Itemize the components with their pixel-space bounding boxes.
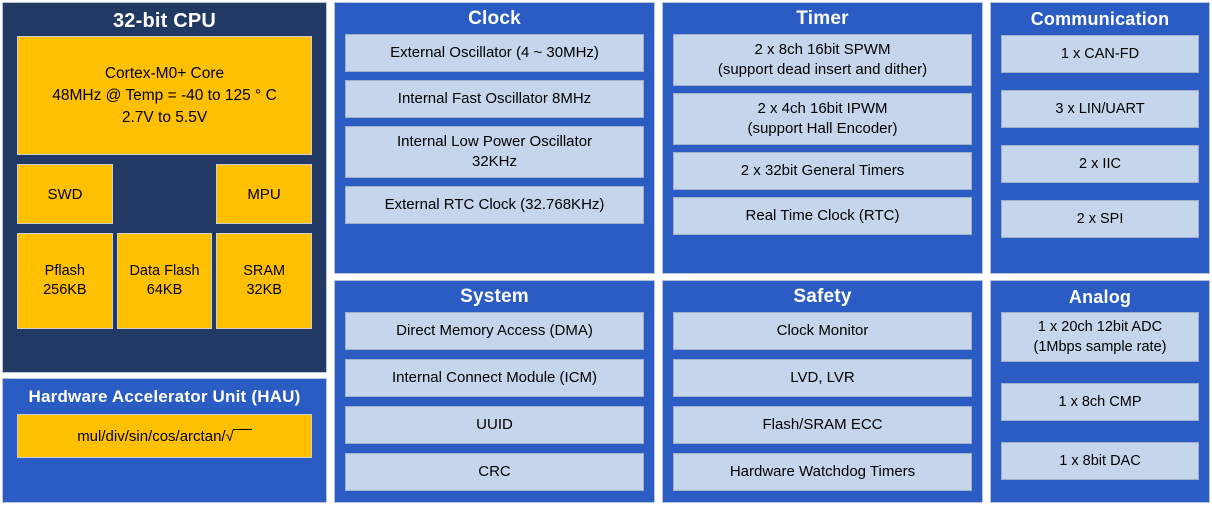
timer-item-general-timers: 2 x 32bit General Timers	[673, 152, 972, 190]
panel-title-analog: Analog	[991, 281, 1209, 311]
cpu-debug-row: SWD MPU	[17, 164, 312, 224]
communication-item-iic-label: 2 x IIC	[1079, 154, 1121, 174]
panel-title-cpu: 32-bit CPU	[3, 3, 326, 36]
cpu-core-line-2: 48MHz @ Temp = -40 to 125 ° C	[52, 85, 277, 107]
safety-item-clock-monitor-label: Clock Monitor	[777, 321, 869, 341]
panel-title-system: System	[335, 281, 654, 311]
system-item-uuid: UUID	[345, 406, 644, 444]
cpu-block-pflash-name: Pflash	[45, 262, 85, 281]
communication-item-spi: 2 x SPI	[1001, 200, 1199, 238]
clock-item-external-rtc-clock: External RTC Clock (32.768KHz)	[345, 186, 644, 224]
panel-body-system: Direct Memory Access (DMA) Internal Conn…	[335, 311, 654, 502]
hau-radical-overbar-icon	[233, 429, 252, 430]
panel-system: System Direct Memory Access (DMA) Intern…	[334, 280, 655, 503]
cpu-block-sram-size: 32KB	[246, 281, 281, 300]
panel-body-safety: Clock Monitor LVD, LVR Flash/SRAM ECC Ha…	[663, 311, 982, 502]
timer-item-ipwm: 2 x 4ch 16bit IPWM (support Hall Encoder…	[673, 93, 972, 145]
communication-item-can-fd-label: 1 x CAN-FD	[1061, 44, 1139, 64]
cpu-core-line-3: 2.7V to 5.5V	[122, 107, 207, 129]
timer-safety-column: Timer 2 x 8ch 16bit SPWM (support dead i…	[662, 2, 983, 503]
clock-item-external-rtc-clock-label: External RTC Clock (32.768KHz)	[385, 195, 605, 215]
panel-body-communication: 1 x CAN-FD 3 x LIN/UART 2 x IIC 2 x SPI	[991, 33, 1209, 273]
system-item-dma: Direct Memory Access (DMA)	[345, 312, 644, 350]
cpu-block-mpu: MPU	[216, 164, 312, 224]
system-item-icm: Internal Connect Module (ICM)	[345, 359, 644, 397]
clock-item-external-oscillator: External Oscillator (4 ~ 30MHz)	[345, 34, 644, 72]
analog-item-cmp: 1 x 8ch CMP	[1001, 383, 1199, 421]
safety-item-ecc-label: Flash/SRAM ECC	[762, 415, 882, 435]
panel-body-timer: 2 x 8ch 16bit SPWM (support dead insert …	[663, 33, 982, 273]
cpu-core-box: Cortex-M0+ Core 48MHz @ Temp = -40 to 12…	[17, 36, 312, 155]
panel-body-hau: mul/div/sin/cos/arctan/√	[3, 411, 326, 494]
timer-item-rtc: Real Time Clock (RTC)	[673, 197, 972, 235]
timer-item-spwm: 2 x 8ch 16bit SPWM (support dead insert …	[673, 34, 972, 86]
panel-title-timer: Timer	[663, 3, 982, 33]
panel-communication: Communication 1 x CAN-FD 3 x LIN/UART 2 …	[990, 2, 1210, 274]
cpu-block-dataflash: Data Flash 64KB	[117, 233, 213, 329]
system-item-crc-label: CRC	[478, 462, 511, 482]
system-item-dma-label: Direct Memory Access (DMA)	[396, 321, 593, 341]
panel-body-clock: External Oscillator (4 ~ 30MHz) Internal…	[335, 33, 654, 273]
system-item-crc: CRC	[345, 453, 644, 491]
timer-item-spwm-line-1: 2 x 8ch 16bit SPWM	[755, 41, 891, 58]
clock-item-internal-fast-oscillator: Internal Fast Oscillator 8MHz	[345, 80, 644, 118]
clock-system-column: Clock External Oscillator (4 ~ 30MHz) In…	[334, 2, 655, 503]
communication-analog-column: Communication 1 x CAN-FD 3 x LIN/UART 2 …	[990, 2, 1210, 503]
communication-item-lin-uart: 3 x LIN/UART	[1001, 90, 1199, 128]
clock-item-internal-low-power-oscillator: Internal Low Power Oscillator 32KHz	[345, 126, 644, 178]
cpu-memory-row: Pflash 256KB Data Flash 64KB SRAM 32KB	[17, 233, 312, 329]
panel-title-safety: Safety	[663, 281, 982, 311]
safety-item-clock-monitor: Clock Monitor	[673, 312, 972, 350]
analog-item-adc-line-1: 1 x 20ch 12bit ADC	[1038, 319, 1162, 335]
cpu-column: 32-bit CPU Cortex-M0+ Core 48MHz @ Temp …	[2, 2, 327, 503]
panel-analog: Analog 1 x 20ch 12bit ADC (1Mbps sample …	[990, 280, 1210, 503]
panel-title-communication: Communication	[991, 3, 1209, 33]
clock-item-internal-low-power-oscillator-label: Internal Low Power Oscillator 32KHz	[397, 132, 592, 172]
cpu-block-swd-label: SWD	[47, 186, 82, 203]
analog-item-dac-label: 1 x 8bit DAC	[1059, 451, 1140, 471]
timer-item-ipwm-line-1: 2 x 4ch 16bit IPWM	[757, 100, 887, 117]
timer-item-general-timers-label: 2 x 32bit General Timers	[741, 161, 904, 181]
analog-item-adc: 1 x 20ch 12bit ADC (1Mbps sample rate)	[1001, 312, 1199, 362]
panel-title-hau: Hardware Accelerator Unit (HAU)	[3, 379, 326, 411]
clock-item-ilpo-line-1: Internal Low Power Oscillator	[397, 133, 592, 150]
timer-item-ipwm-line-2: (support Hall Encoder)	[747, 120, 897, 137]
analog-item-dac: 1 x 8bit DAC	[1001, 442, 1199, 480]
hau-functions-radical-glyph: √	[226, 428, 234, 445]
analog-item-adc-line-2: (1Mbps sample rate)	[1034, 339, 1167, 355]
cpu-block-swd: SWD	[17, 164, 113, 224]
hau-functions-box: mul/div/sin/cos/arctan/√	[17, 414, 312, 458]
timer-item-rtc-label: Real Time Clock (RTC)	[746, 206, 900, 226]
panel-timer: Timer 2 x 8ch 16bit SPWM (support dead i…	[662, 2, 983, 274]
cpu-core-line-1: Cortex-M0+ Core	[105, 63, 224, 85]
panel-cpu: 32-bit CPU Cortex-M0+ Core 48MHz @ Temp …	[2, 2, 327, 373]
safety-item-lvd-lvr: LVD, LVR	[673, 359, 972, 397]
clock-item-internal-fast-oscillator-label: Internal Fast Oscillator 8MHz	[398, 89, 591, 109]
cpu-block-sram: SRAM 32KB	[216, 233, 312, 329]
mcu-block-diagram: 32-bit CPU Cortex-M0+ Core 48MHz @ Temp …	[0, 0, 1212, 505]
safety-item-watchdog-label: Hardware Watchdog Timers	[730, 462, 915, 482]
safety-item-watchdog: Hardware Watchdog Timers	[673, 453, 972, 491]
panel-clock: Clock External Oscillator (4 ~ 30MHz) In…	[334, 2, 655, 274]
panel-hau: Hardware Accelerator Unit (HAU) mul/div/…	[2, 378, 327, 503]
cpu-block-sram-name: SRAM	[243, 262, 285, 281]
cpu-block-dataflash-size: 64KB	[147, 281, 182, 300]
communication-item-spi-label: 2 x SPI	[1077, 209, 1124, 229]
timer-item-spwm-line-2: (support dead insert and dither)	[718, 61, 927, 78]
communication-item-iic: 2 x IIC	[1001, 145, 1199, 183]
timer-item-spwm-label: 2 x 8ch 16bit SPWM (support dead insert …	[718, 40, 927, 80]
panel-body-analog: 1 x 20ch 12bit ADC (1Mbps sample rate) 1…	[991, 311, 1209, 502]
cpu-block-mpu-label: MPU	[247, 186, 280, 203]
hau-functions-label: mul/div/sin/cos/arctan/√	[77, 428, 252, 445]
analog-item-cmp-label: 1 x 8ch CMP	[1059, 392, 1142, 412]
clock-item-ilpo-line-2: 32KHz	[472, 153, 517, 170]
system-item-icm-label: Internal Connect Module (ICM)	[392, 368, 597, 388]
panel-title-clock: Clock	[335, 3, 654, 33]
hau-functions-prefix: mul/div/sin/cos/arctan/	[77, 428, 225, 445]
safety-item-lvd-lvr-label: LVD, LVR	[790, 368, 854, 388]
panel-safety: Safety Clock Monitor LVD, LVR Flash/SRAM…	[662, 280, 983, 503]
cpu-block-pflash: Pflash 256KB	[17, 233, 113, 329]
timer-item-ipwm-label: 2 x 4ch 16bit IPWM (support Hall Encoder…	[747, 99, 897, 139]
communication-item-lin-uart-label: 3 x LIN/UART	[1055, 99, 1144, 119]
panel-body-cpu: Cortex-M0+ Core 48MHz @ Temp = -40 to 12…	[3, 36, 326, 364]
analog-item-adc-label: 1 x 20ch 12bit ADC (1Mbps sample rate)	[1034, 317, 1167, 357]
safety-item-ecc: Flash/SRAM ECC	[673, 406, 972, 444]
cpu-block-pflash-size: 256KB	[43, 281, 87, 300]
system-item-uuid-label: UUID	[476, 415, 513, 435]
cpu-block-dataflash-name: Data Flash	[129, 262, 199, 281]
communication-item-can-fd: 1 x CAN-FD	[1001, 35, 1199, 73]
clock-item-external-oscillator-label: External Oscillator (4 ~ 30MHz)	[390, 43, 599, 63]
